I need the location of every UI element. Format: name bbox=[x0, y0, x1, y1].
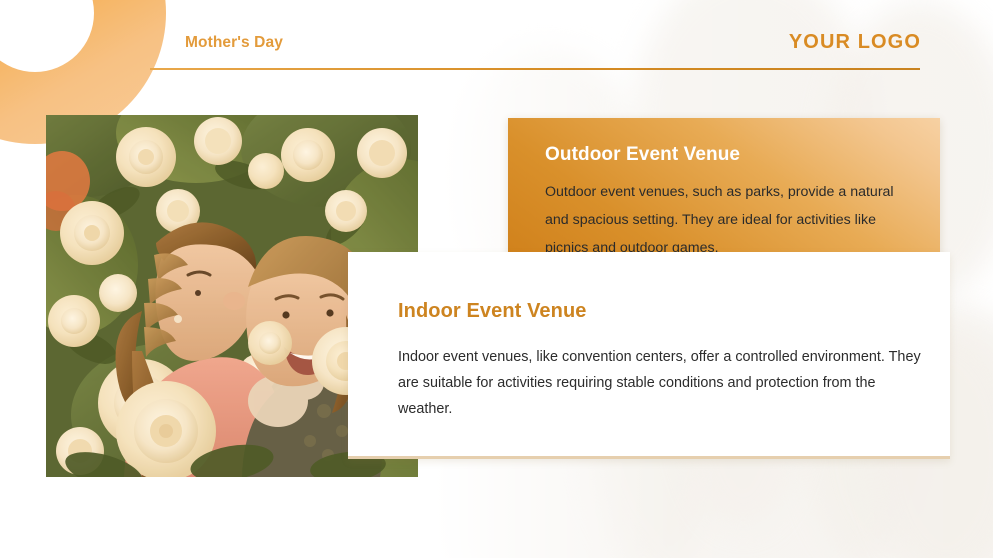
outdoor-card-title: Outdoor Event Venue bbox=[545, 144, 740, 166]
header-divider bbox=[150, 68, 920, 70]
presentation-slide: Mother's Day YOUR LOGO bbox=[0, 0, 993, 558]
indoor-event-venue-card: Indoor Event Venue Indoor event venues, … bbox=[348, 252, 950, 459]
logo-text: YOUR LOGO bbox=[789, 31, 921, 54]
outdoor-card-body: Outdoor event venues, such as parks, pro… bbox=[545, 178, 907, 262]
page-title: Mother's Day bbox=[185, 34, 283, 52]
indoor-card-title: Indoor Event Venue bbox=[398, 300, 587, 323]
indoor-card-body: Indoor event venues, like convention cen… bbox=[398, 344, 928, 422]
